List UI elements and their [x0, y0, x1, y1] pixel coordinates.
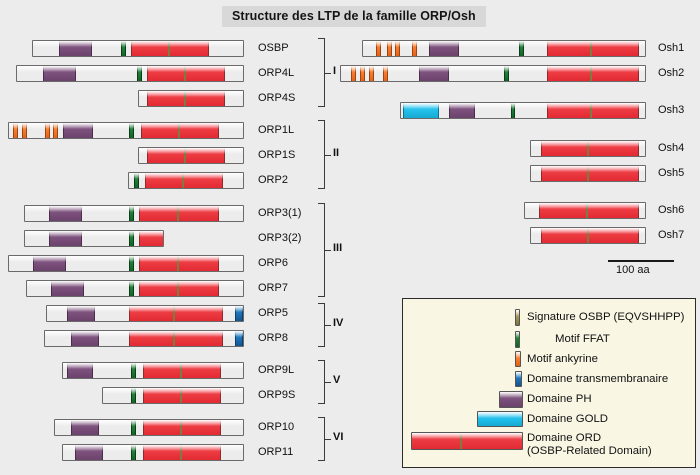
ankyrin-motif — [22, 123, 27, 138]
protein-bar-orp8 — [44, 330, 244, 347]
ph-domain — [75, 445, 103, 460]
ffat-motif — [121, 41, 126, 56]
group-number-vi: VI — [333, 431, 343, 443]
protein-bar-osbp — [32, 40, 244, 57]
protein-bar-osh3 — [400, 102, 646, 119]
protein-label-orp31: ORP3(1) — [258, 205, 301, 222]
protein-bar-orp11 — [62, 444, 244, 461]
transmembrane-domain — [235, 306, 243, 321]
group-bracket — [318, 203, 325, 297]
ord-domain — [139, 206, 219, 221]
ord-domain — [129, 331, 223, 346]
protein-label-osh1: Osh1 — [658, 40, 684, 57]
protein-label-osh4: Osh4 — [658, 140, 684, 157]
protein-label-orp9s: ORP9S — [258, 387, 295, 404]
group-number-iv: IV — [333, 317, 343, 329]
ord-subdomain-divider — [587, 141, 589, 156]
protein-bar-orp1s — [138, 147, 244, 164]
ord-domain — [139, 256, 219, 271]
ord-subdomain-divider — [180, 388, 182, 403]
group-bracket — [318, 360, 325, 404]
ord-subdomain-divider — [177, 256, 179, 271]
legend-swatch-transmembrane — [515, 371, 522, 387]
ffat-motif — [131, 445, 136, 460]
protein-bar-osh4 — [530, 140, 646, 157]
protein-label-orp9l: ORP9L — [258, 362, 294, 379]
ord-subdomain-divider — [168, 41, 170, 56]
protein-bar-orp7 — [26, 280, 244, 297]
ord-subdomain-divider — [180, 363, 182, 378]
ffat-motif — [131, 420, 136, 435]
ph-domain — [59, 41, 92, 56]
protein-label-orp11: ORP11 — [258, 444, 293, 461]
page-title: Structure des LTP de la famille ORP/Osh — [222, 6, 486, 27]
protein-bar-orp4l — [16, 65, 244, 82]
ph-domain — [33, 256, 66, 271]
ffat-motif — [129, 123, 134, 138]
ord-domain — [547, 41, 639, 56]
protein-bar-orp9s — [102, 387, 244, 404]
ph-domain — [429, 41, 459, 56]
protein-bar-orp4s — [138, 90, 244, 107]
ffat-motif — [129, 206, 134, 221]
protein-label-osh7: Osh7 — [658, 227, 684, 244]
ord-domain — [547, 66, 639, 81]
protein-label-osh6: Osh6 — [658, 202, 684, 219]
ord-domain — [143, 388, 221, 403]
group-number-iii: III — [333, 242, 342, 254]
scale-bar-line — [608, 260, 674, 262]
group-bracket — [318, 120, 325, 189]
ph-domain — [63, 123, 93, 138]
protein-label-orp4l: ORP4L — [258, 65, 294, 82]
ord-domain — [541, 228, 639, 243]
group-bracket — [318, 417, 325, 461]
ord-domain — [131, 41, 209, 56]
protein-label-orp6: ORP6 — [258, 255, 288, 272]
protein-bar-orp6 — [8, 255, 244, 272]
protein-bar-orp10 — [54, 419, 244, 436]
ph-domain — [419, 66, 449, 81]
ord-domain — [547, 103, 639, 118]
ord-subdomain-divider — [590, 103, 592, 118]
diagram-canvas: Structure des LTP de la famille ORP/Osh … — [0, 0, 700, 475]
legend-swatch-ffat — [515, 331, 520, 348]
protein-label-orp8: ORP8 — [258, 330, 288, 347]
ord-subdomain-divider — [182, 173, 184, 188]
ffat-motif — [129, 281, 134, 296]
ph-domain — [43, 66, 76, 81]
ffat-motif — [129, 231, 134, 246]
ord-domain — [141, 123, 219, 138]
ord-subdomain-divider — [587, 166, 589, 181]
ord-domain — [139, 231, 164, 246]
ankyrin-motif — [53, 123, 58, 138]
ffat-motif — [137, 66, 142, 81]
ord-domain — [147, 91, 225, 106]
ankyrin-motif — [369, 66, 374, 81]
protein-label-osh3: Osh3 — [658, 102, 684, 119]
legend-label-ph: Domaine PH — [527, 393, 592, 406]
group-number-v: V — [333, 374, 340, 386]
protein-label-orp2: ORP2 — [258, 172, 288, 189]
protein-label-orp5: ORP5 — [258, 305, 288, 322]
ankyrin-motif — [360, 66, 365, 81]
ankyrin-motif — [45, 123, 50, 138]
ffat-motif — [511, 103, 515, 118]
legend-label-transmembrane: Domaine transmembranaire — [527, 373, 668, 386]
ord-subdomain-divider — [178, 123, 180, 138]
ord-subdomain-divider — [184, 66, 186, 81]
ph-domain — [71, 420, 99, 435]
ord-subdomain-divider — [173, 331, 175, 346]
legend-ord-divider — [460, 433, 462, 449]
protein-label-orp7: ORP7 — [258, 280, 288, 297]
ord-subdomain-divider — [177, 281, 179, 296]
ord-domain — [143, 445, 221, 460]
protein-bar-orp31 — [24, 205, 244, 222]
ord-subdomain-divider — [590, 41, 592, 56]
legend-label-ankyrin: Motif ankyrine — [527, 353, 598, 366]
protein-bar-osh7 — [530, 227, 646, 244]
protein-label-osh2: Osh2 — [658, 65, 684, 82]
ord-subdomain-divider — [586, 203, 588, 218]
legend-label-main: Domaine ORD — [527, 432, 601, 444]
ph-domain — [71, 331, 99, 346]
protein-bar-osh1 — [362, 40, 646, 57]
ord-domain — [143, 363, 221, 378]
protein-bar-osh2 — [340, 65, 646, 82]
ord-subdomain-divider — [177, 206, 179, 221]
ord-subdomain-divider — [180, 445, 182, 460]
ord-domain — [129, 306, 223, 321]
group-bracket-tick — [325, 325, 331, 326]
ord-domain — [147, 148, 225, 163]
group-number-i: I — [333, 65, 336, 77]
legend-label-ffat: Motif FFAT — [555, 333, 610, 346]
ankyrin-motif — [412, 41, 417, 56]
ord-subdomain-divider — [590, 66, 592, 81]
group-bracket-tick — [325, 382, 331, 383]
ord-subdomain-divider — [173, 306, 175, 321]
protein-bar-orp5 — [46, 305, 244, 322]
group-bracket-tick — [325, 250, 331, 251]
protein-label-orp1l: ORP1L — [258, 122, 294, 139]
ord-subdomain-divider — [587, 228, 589, 243]
ord-subdomain-divider — [184, 91, 186, 106]
ord-subdomain-divider — [180, 420, 182, 435]
protein-label-orp4s: ORP4S — [258, 90, 295, 107]
ffat-motif — [131, 363, 136, 378]
protein-bar-osh5 — [530, 165, 646, 182]
ord-domain — [147, 66, 225, 81]
protein-bar-osh6 — [524, 202, 646, 219]
protein-label-orp1s: ORP1S — [258, 147, 295, 164]
ffat-motif — [131, 388, 136, 403]
gold-domain — [403, 103, 439, 118]
legend-label-signature: Signature OSBP (EQVSHHPP) — [527, 311, 684, 324]
ffat-motif — [129, 256, 134, 271]
legend-swatch-signature — [515, 309, 520, 326]
legend-label-ord: Domaine ORD(OSBP-Related Domain) — [527, 432, 652, 458]
ph-domain — [51, 281, 84, 296]
group-bracket-tick — [325, 155, 331, 156]
ph-domain — [67, 306, 95, 321]
ord-domain — [145, 173, 223, 188]
group-bracket — [318, 303, 325, 347]
protein-bar-orp9l — [62, 362, 244, 379]
protein-bar-orp2 — [128, 172, 244, 189]
group-bracket — [318, 38, 325, 107]
legend-swatch-ph — [499, 391, 523, 408]
protein-label-osh5: Osh5 — [658, 165, 684, 182]
ankyrin-motif — [376, 41, 381, 56]
ffat-motif — [519, 41, 524, 56]
protein-label-orp10: ORP10 — [258, 419, 294, 436]
ph-domain — [449, 103, 475, 118]
protein-bar-orp32 — [24, 230, 164, 247]
ord-domain — [539, 203, 639, 218]
protein-label-osbp: OSBP — [258, 40, 289, 57]
ankyrin-motif — [351, 66, 356, 81]
protein-label-orp32: ORP3(2) — [258, 230, 301, 247]
transmembrane-domain — [235, 331, 243, 346]
scale-bar-label: 100 aa — [616, 264, 650, 276]
ord-domain — [139, 281, 219, 296]
ankyrin-motif — [387, 41, 392, 56]
legend-label-gold: Domaine GOLD — [527, 413, 608, 426]
legend-swatch-ankyrin — [515, 351, 521, 367]
ffat-motif — [504, 66, 509, 81]
ankyrin-motif — [395, 41, 400, 56]
ph-domain — [67, 363, 93, 378]
legend-swatch-ord — [411, 432, 523, 450]
ffat-motif — [134, 173, 139, 188]
ankyrin-motif — [13, 123, 18, 138]
group-bracket-tick — [325, 439, 331, 440]
ph-domain — [49, 231, 82, 246]
ord-domain — [143, 420, 221, 435]
ankyrin-motif — [383, 66, 388, 81]
ord-domain — [541, 166, 639, 181]
group-bracket-tick — [325, 73, 331, 74]
protein-bar-orp1l — [8, 122, 244, 139]
legend-swatch-gold — [477, 411, 523, 427]
legend-label-sub: (OSBP-Related Domain) — [527, 445, 652, 458]
ord-domain — [541, 141, 639, 156]
group-number-ii: II — [333, 147, 339, 159]
ord-subdomain-divider — [184, 148, 186, 163]
legend-box: Signature OSBP (EQVSHHPP)Motif FFATMotif… — [402, 298, 696, 468]
ph-domain — [49, 206, 82, 221]
